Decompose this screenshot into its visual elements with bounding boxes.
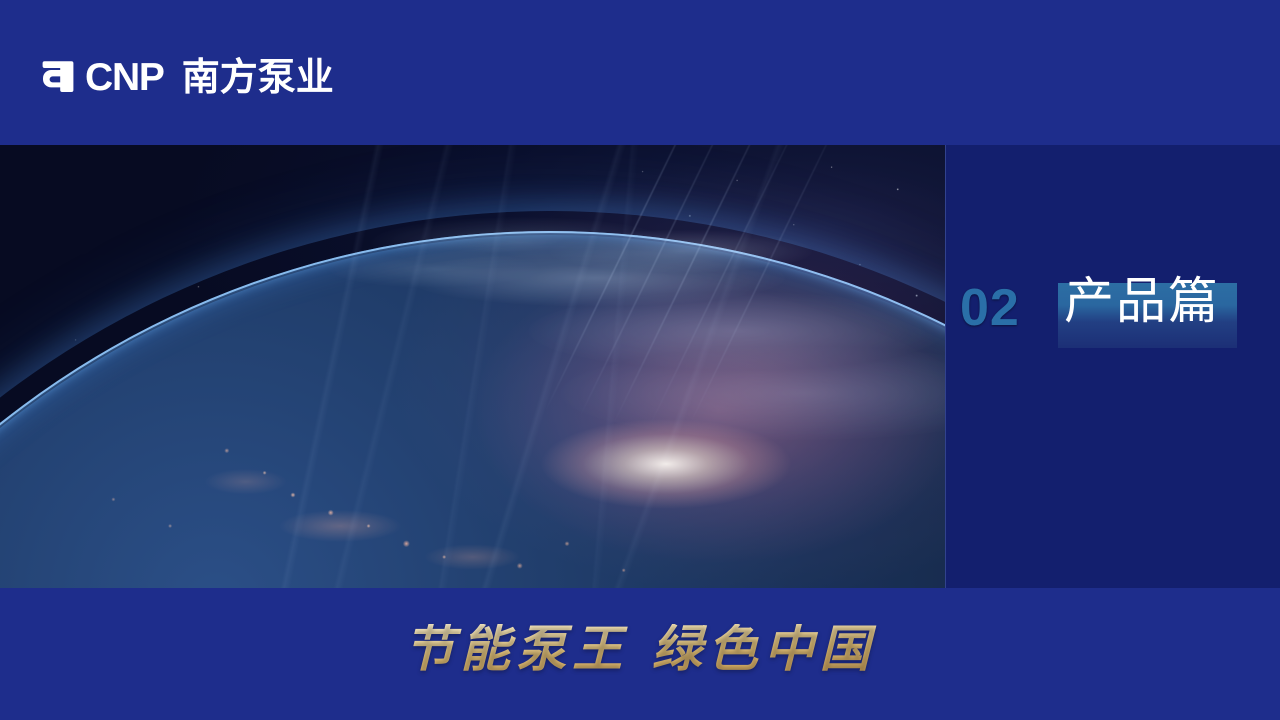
cnp-logo-mark-icon [40,59,76,95]
section-panel: 02 产品篇 [945,145,1280,588]
brand-wordmark: CNP [85,58,164,97]
brand-logo: CNP 南方泵业 [40,53,334,101]
slide-footer: 节能泵王 绿色中国 [0,588,1280,720]
section-number: 02 [960,282,1020,334]
section-title: 产品篇 [1064,276,1264,326]
hero-earth-image [0,145,945,588]
footer-slogan: 节能泵王 绿色中国 [0,624,1280,674]
brand-chinese-name: 南方泵业 [182,58,334,96]
panel-divider [945,145,946,588]
presentation-slide: CNP 南方泵业 02 产品篇 节能泵王 绿色中国 [0,0,1280,720]
slide-header: CNP 南方泵业 [0,0,1280,145]
orbital-streak-lines [0,145,945,588]
